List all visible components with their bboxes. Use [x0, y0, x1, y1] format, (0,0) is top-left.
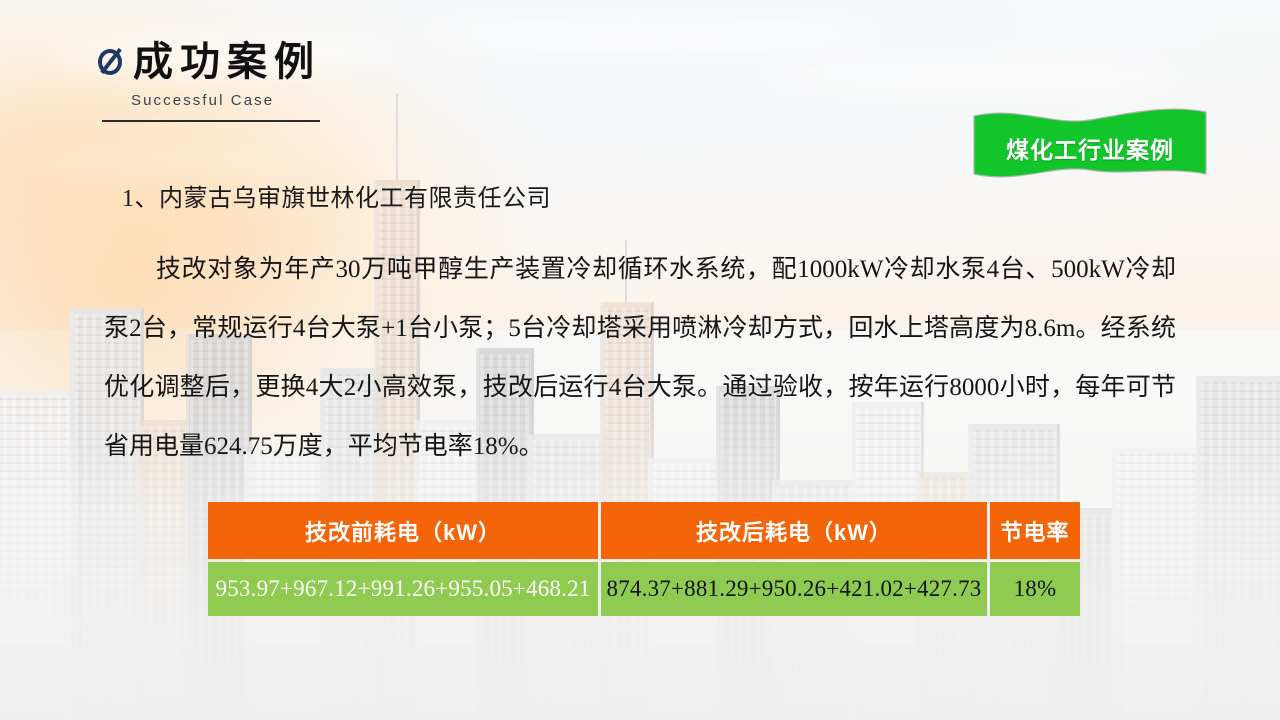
page-subtitle: Successful Case	[131, 92, 555, 109]
ribbon-flag-shape	[968, 104, 1212, 186]
table-cell-after-kw: 874.37+881.29+950.26+421.02+427.73	[601, 562, 987, 616]
slide-title-block: 成功案例 Successful Case	[95, 36, 555, 122]
slide-canvas: 成功案例 Successful Case 煤化工行业案例 1、内蒙古乌审旗世林化…	[0, 0, 1280, 720]
page-title: 成功案例	[133, 39, 321, 85]
table-header-cell: 节电率	[990, 502, 1080, 559]
table-cell-saving-rate: 18%	[990, 562, 1080, 616]
table-header-cell: 技改前耗电（kW）	[208, 502, 598, 559]
circle-slash-icon	[95, 46, 129, 80]
industry-ribbon-badge: 煤化工行业案例	[968, 104, 1212, 186]
energy-savings-table: 技改前耗电（kW） 技改后耗电（kW） 节电率 953.97+967.12+99…	[205, 499, 1083, 619]
title-underline	[102, 120, 320, 122]
table-header-cell: 技改后耗电（kW）	[601, 502, 987, 559]
table-cell-before-kw: 953.97+967.12+991.26+955.05+468.21	[208, 562, 598, 616]
case-paragraph: 技改对象为年产30万吨甲醇生产装置冷却循环水系统，配1000kW冷却水泵4台、5…	[104, 240, 1176, 476]
table-row: 953.97+967.12+991.26+955.05+468.21 874.3…	[208, 562, 1080, 616]
table-header-row: 技改前耗电（kW） 技改后耗电（kW） 节电率	[208, 502, 1080, 559]
case-heading: 1、内蒙古乌审旗世林化工有限责任公司	[122, 178, 551, 213]
title-row: 成功案例	[95, 36, 555, 88]
